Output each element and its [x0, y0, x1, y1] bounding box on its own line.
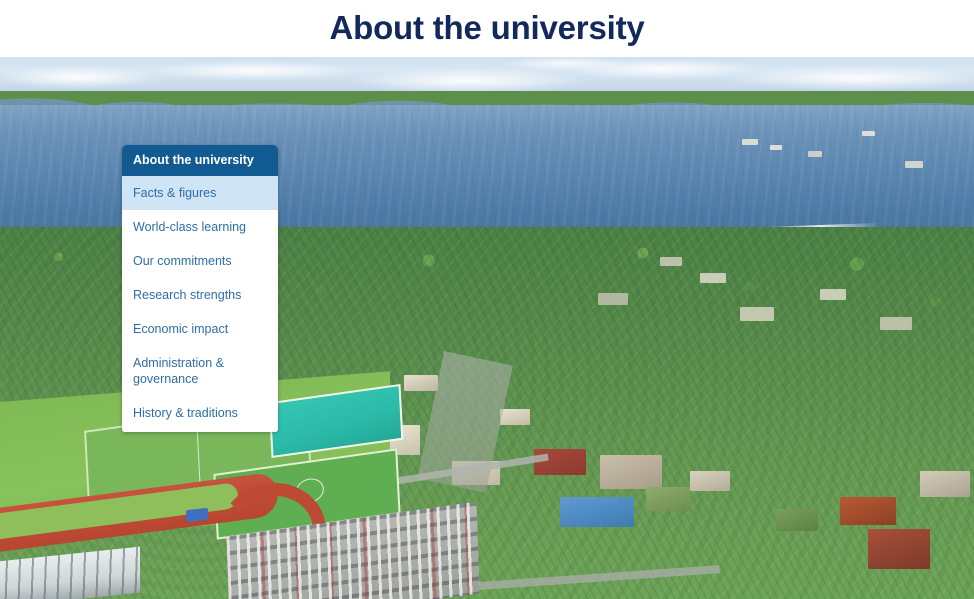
building-rooftop	[742, 139, 758, 145]
menu-item-research-strengths[interactable]: Research strengths	[122, 278, 278, 312]
glass-building	[560, 497, 634, 527]
building-rooftop	[880, 317, 912, 330]
building-rooftop	[660, 257, 682, 266]
building-rooftop	[740, 307, 774, 321]
menu-item-world-class-learning[interactable]: World-class learning	[122, 210, 278, 244]
dropdown-header[interactable]: About the university	[122, 145, 278, 176]
dropdown-item-list: Facts & figures World-class learning Our…	[122, 176, 278, 432]
menu-item-economic-impact[interactable]: Economic impact	[122, 312, 278, 346]
page-root: About the university	[0, 0, 974, 599]
campus-building	[600, 455, 662, 489]
about-the-university-dropdown[interactable]: About the university Facts & figures Wor…	[122, 145, 278, 432]
brick-building	[840, 497, 896, 525]
campus-building	[920, 471, 970, 497]
menu-item-administration-and-governance[interactable]: Administration & governance	[122, 346, 278, 396]
brick-building	[868, 529, 930, 569]
stadium-grandstand	[0, 547, 140, 599]
menu-item-our-commitments[interactable]: Our commitments	[122, 244, 278, 278]
page-title: About the university	[329, 9, 644, 49]
menu-item-facts-and-figures[interactable]: Facts & figures	[122, 176, 278, 210]
menu-item-history-and-traditions[interactable]: History & traditions	[122, 396, 278, 432]
hero-image: About the university Facts & figures Wor…	[0, 57, 974, 599]
brick-building	[534, 449, 586, 475]
green-roof-building	[646, 487, 690, 511]
building-rooftop	[862, 131, 875, 136]
campus-building	[500, 409, 530, 425]
building-rooftop	[905, 161, 923, 168]
building-rooftop	[770, 145, 782, 150]
campus-building	[690, 471, 730, 491]
high-jump-mat	[186, 508, 208, 522]
page-header: About the university	[0, 0, 974, 57]
building-rooftop	[808, 151, 822, 157]
building-rooftop	[820, 289, 846, 300]
building-rooftop	[598, 293, 628, 305]
green-roof-building	[776, 509, 818, 531]
building-rooftop	[700, 273, 726, 283]
